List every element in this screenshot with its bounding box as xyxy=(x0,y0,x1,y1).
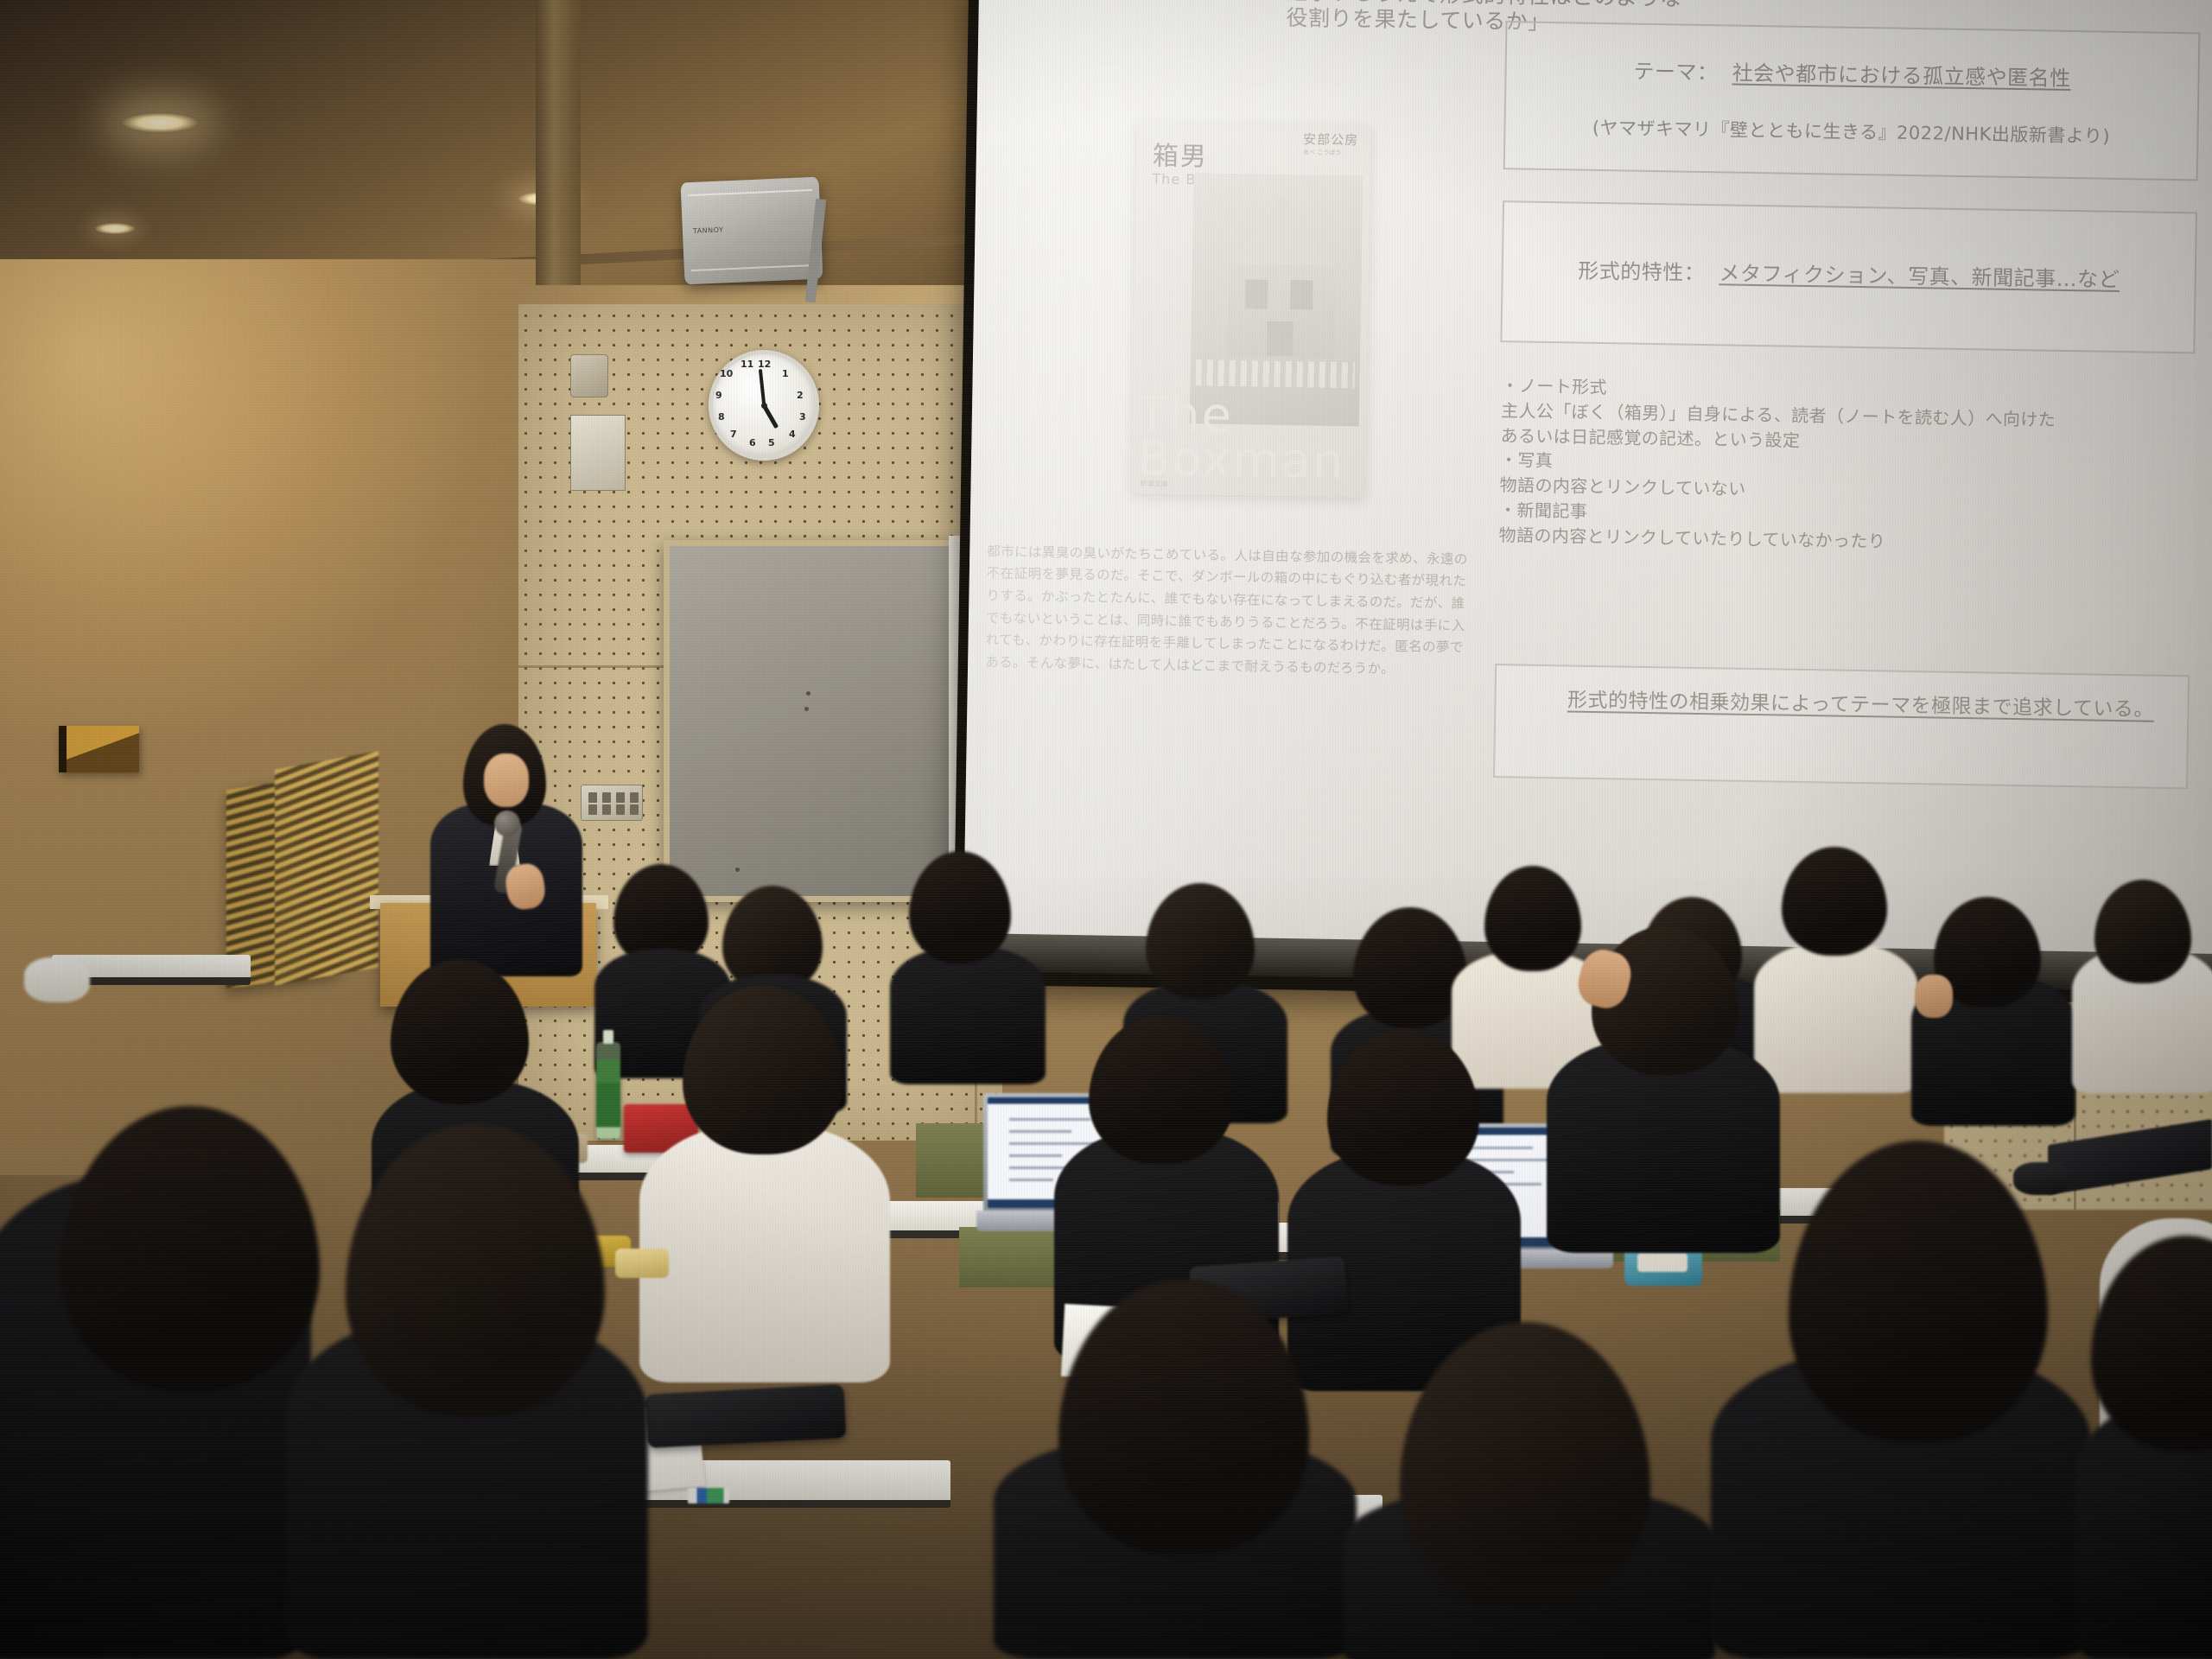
book-cover-big-text: The Boxman xyxy=(1137,392,1346,485)
ceiling-light xyxy=(121,112,199,133)
book-publisher-mark: 新潮文庫 xyxy=(1141,479,1168,489)
wall-beam xyxy=(536,0,581,311)
wall-small-box xyxy=(570,354,608,397)
book-title: 箱男 xyxy=(1153,134,1209,173)
eraser xyxy=(688,1488,729,1503)
wall-clock: 12 1 2 3 4 5 6 7 8 9 10 11 xyxy=(709,350,819,461)
bulletin-board xyxy=(664,540,961,902)
light-switch-plate xyxy=(581,785,643,821)
form-label: 形式的特性： xyxy=(1578,259,1705,285)
book-author: 安部公房 あべ こうぼう xyxy=(1303,130,1359,157)
wall-fixture-box xyxy=(59,726,139,772)
audience-body-light xyxy=(639,1123,890,1382)
wall-notice-panel xyxy=(570,415,626,491)
green-tea-bottle xyxy=(596,1042,620,1139)
theme-label: テーマ： xyxy=(1633,60,1718,86)
theme-card: テーマ： 社会や都市における孤立感や匿名性 (ヤマザキマリ『壁とともに生きる』2… xyxy=(1503,21,2201,181)
pegboard-top-trim xyxy=(518,285,1002,304)
book-cover-image: 箱男 The Boxman 安部公房 あべ こうぼう The xyxy=(1131,122,1370,497)
book-author-reading: あべ こうぼう xyxy=(1303,148,1358,157)
microphone-head xyxy=(494,810,520,836)
hand xyxy=(1915,975,1953,1018)
clock-center-pin xyxy=(761,403,767,409)
ceiling-speaker: TANNOY xyxy=(681,177,823,285)
face-mask xyxy=(24,957,90,1002)
house-body-shape xyxy=(1227,264,1336,359)
presenter-face xyxy=(484,753,529,807)
conclusion-text: 形式的特性の相乗効果によってテーマを極限まで追求している。 xyxy=(1496,684,2212,726)
slide-quotation: 都市には異臭の臭いがたちこめている。人は自由な参加の機会を求め、永遠の不在証明を… xyxy=(985,541,1476,683)
projector-screen: 『箱男』において、テーマを追求するうえで形式的特性はどのような 役割りを果たして… xyxy=(963,0,2212,966)
theme-line: テーマ： 社会や都市における孤立感や匿名性 xyxy=(1506,52,2197,93)
pouch-label xyxy=(1637,1253,1688,1272)
conclusion-card: 形式的特性の相乗効果によってテーマを極限まで追求している。 xyxy=(1493,664,2190,789)
audience-body xyxy=(890,946,1046,1084)
wall-light-glow xyxy=(0,259,484,743)
house-roof-shape xyxy=(1229,193,1337,267)
speaker-brand-label: TANNOY xyxy=(693,226,724,235)
slide-bullet-list: ・ノート形式 主人公「ぼく（箱男）」自身による、読者（ノートを読む人）へ向けた … xyxy=(1498,373,2212,559)
form-card: 形式的特性： メタフィクション、写真、新聞記事…など xyxy=(1500,200,2197,353)
small-case xyxy=(615,1249,669,1278)
presentation-slide: 『箱男』において、テーマを追求するうえで形式的特性はどのような 役割りを果たして… xyxy=(963,0,2212,966)
ceiling-light-3 xyxy=(95,223,135,234)
fence-shape xyxy=(1195,359,1354,388)
classroom-presentation-photo: TANNOY 12 1 2 3 4 5 6 7 8 9 10 11 xyxy=(0,0,2212,1659)
form-line: 形式的特性： メタフィクション、写真、新聞記事…など xyxy=(1503,252,2195,294)
theme-source: (ヤマザキマリ『壁とともに生きる』2022/NHK出版新書より) xyxy=(1505,112,2196,149)
form-value: メタフィクション、写真、新聞記事…など xyxy=(1719,261,2120,292)
mouse-device xyxy=(2013,1162,2069,1195)
stacked-chairs-2 xyxy=(275,751,378,985)
pencil-case xyxy=(645,1384,847,1448)
audience-body-light xyxy=(1754,942,1918,1093)
clock-minute-hand xyxy=(759,369,766,405)
theme-value: 社会や都市における孤立感や匿名性 xyxy=(1732,61,2070,91)
